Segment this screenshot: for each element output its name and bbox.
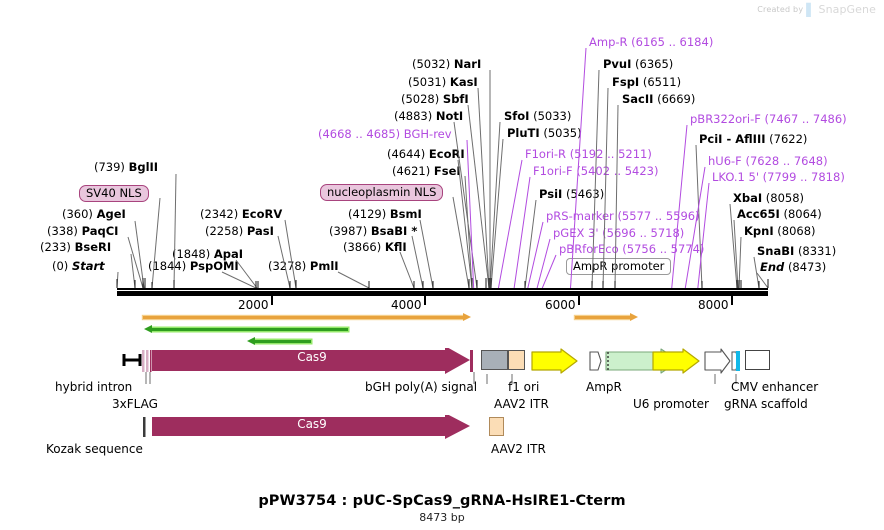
- arrow-u6-promoter[interactable]: [704, 348, 732, 374]
- cmv-enhancer-box[interactable]: [745, 350, 770, 370]
- arrow-ori[interactable]: [652, 348, 701, 374]
- primer-arrow-green-short-reverse[interactable]: [247, 337, 311, 345]
- axis-tick-label-8000: 8000: [698, 298, 729, 312]
- primer-arrow-ampr-forward[interactable]: [575, 313, 638, 321]
- arrow-head-left-icon: [247, 337, 255, 345]
- axis-tick-6000: [578, 296, 580, 305]
- leader-lines: [0, 0, 884, 290]
- feature-label-f1-ori: f1 ori: [508, 380, 539, 394]
- arrow-head-right-icon: [463, 313, 471, 321]
- arrow-head-left-icon: [144, 325, 152, 333]
- aav2-itr-box-row2[interactable]: [489, 417, 504, 436]
- aav2-itr-peach-box[interactable]: [508, 350, 525, 370]
- feature-label-u6-promoter: U6 promoter: [633, 397, 709, 411]
- grna-scaffold-feature[interactable]: [731, 348, 741, 374]
- arrow-head-right-icon: [630, 313, 638, 321]
- feature-label-kozak-sequence: Kozak sequence: [46, 442, 143, 456]
- arrow-shaft: [255, 340, 311, 343]
- feature-label-hybrid-intron: hybrid intron: [55, 380, 132, 394]
- axis-tick-4000: [424, 296, 426, 305]
- feature-label-bgh-polya: bGH poly(A) signal: [365, 380, 477, 394]
- axis-tick-label-2000: 2000: [238, 298, 269, 312]
- axis-tick-8000: [731, 296, 733, 305]
- axis-tick-label-6000: 6000: [545, 298, 576, 312]
- gene-label-cas9-row2: Cas9: [152, 417, 472, 431]
- bgh-polya-feature[interactable]: [470, 348, 478, 374]
- axis-tick-label-4000: 4000: [391, 298, 422, 312]
- ruler-tick-hashes: [0, 276, 884, 292]
- arrow-shaft: [143, 316, 463, 319]
- feature-label-ampr: AmpR: [586, 380, 622, 394]
- arrow-f1-ori[interactable]: [531, 348, 579, 374]
- page-title: pPW3754 : pUC-SpCas9_gRNA-HsIRE1-Cterm: [0, 493, 884, 509]
- page-subtitle-bp: 8473 bp: [0, 511, 884, 524]
- aav2-itr-grey-box[interactable]: [481, 350, 508, 370]
- kozak-sequence-feature[interactable]: [140, 415, 150, 439]
- primer-arrow-green-long-reverse[interactable]: [144, 325, 348, 333]
- feature-label-cmv-enhancer: CMV enhancer: [731, 380, 818, 394]
- ampr-promoter-feature[interactable]: [589, 348, 603, 374]
- arrow-shaft: [152, 328, 348, 331]
- feature-label-aav2-itr-row1: AAV2 ITR: [494, 397, 549, 411]
- feature-label-grna-scaffold: gRNA scaffold: [724, 397, 808, 411]
- axis-tick-2000: [271, 296, 273, 305]
- gene-label-cas9: Cas9: [152, 350, 472, 364]
- arrow-shaft: [575, 316, 630, 319]
- primer-arrow-cmv-forward[interactable]: [143, 313, 471, 321]
- feature-label-aav2-itr-row2: AAV2 ITR: [491, 442, 546, 456]
- feature-label-3xflag: 3xFLAG: [112, 397, 158, 411]
